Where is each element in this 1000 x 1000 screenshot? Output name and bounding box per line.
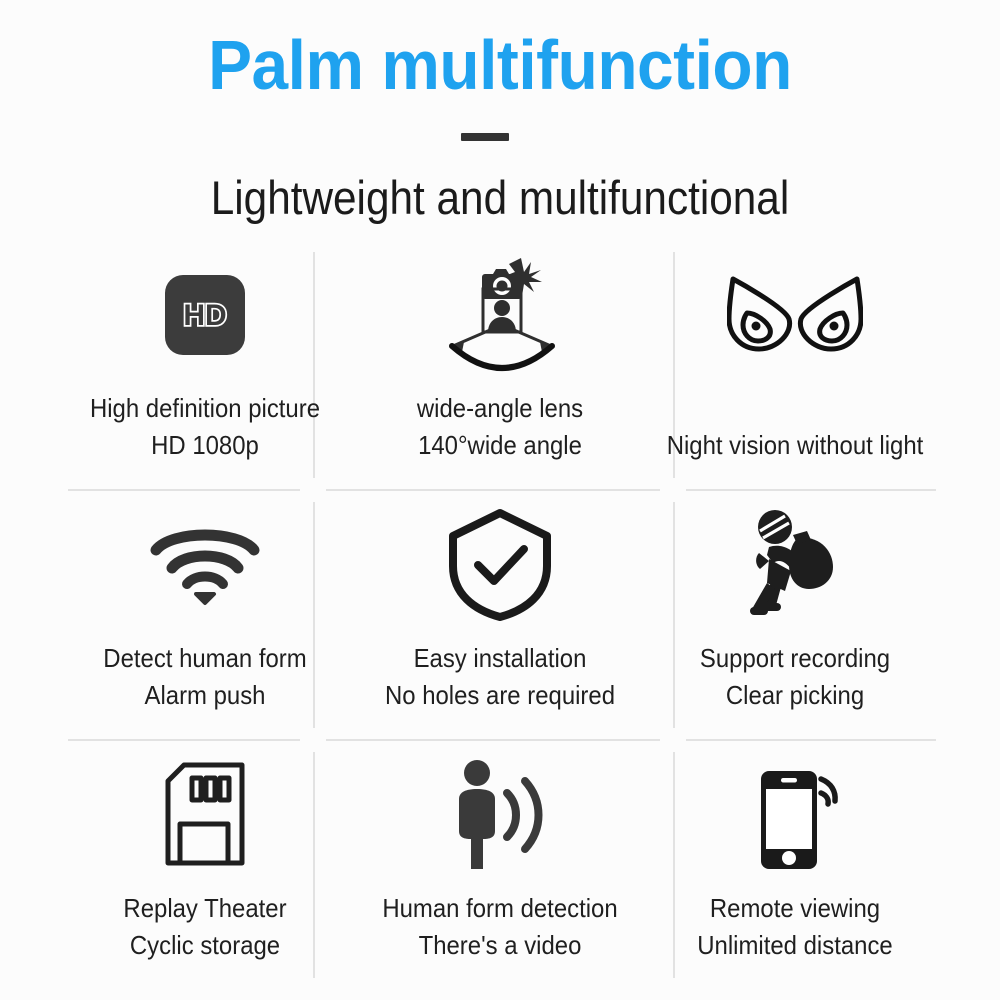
feature-caption-line2: Cyclic storage: [70, 927, 340, 964]
svg-text:HD: HD: [183, 299, 226, 332]
feature-caption-line2: Alarm push: [70, 677, 340, 714]
feature-poster: Palm multifunction Lightweight and multi…: [0, 0, 1000, 1000]
title-divider-bar: [461, 133, 509, 141]
feature-caption-line2: Clear picking: [660, 677, 930, 714]
feature-card-wide-angle: wide-angle lens 140°wide angle: [353, 240, 647, 490]
feature-card-replay-theater: Replay Theater Cyclic storage: [58, 740, 352, 990]
feature-caption-line1: Detect human form: [70, 640, 340, 677]
hd-badge-icon: HD: [58, 240, 352, 390]
night-vision-eyes-icon: [648, 240, 942, 390]
feature-caption-line1: Easy installation: [365, 640, 635, 677]
feature-grid: HD High definition picture HD 1080p: [58, 240, 942, 990]
feature-caption-line1: wide-angle lens: [365, 390, 635, 427]
person-motion-signal-icon: [353, 740, 647, 890]
feature-card-human-detection: Human form detection There's a video: [353, 740, 647, 990]
feature-card-support-recording: Support recording Clear picking: [648, 490, 942, 740]
page-title: Palm multifunction: [30, 22, 970, 108]
page-subtitle: Lightweight and multifunctional: [50, 168, 950, 228]
shield-check-icon: [353, 490, 647, 640]
feature-caption-line1: Replay Theater: [70, 890, 340, 927]
feature-caption-line2: No holes are required: [365, 677, 635, 714]
feature-caption-line1: Support recording: [660, 640, 930, 677]
feature-caption-line1: Remote viewing: [660, 890, 930, 927]
wide-angle-camera-icon: [353, 240, 647, 390]
feature-caption-line2: HD 1080p: [70, 427, 340, 464]
feature-caption-line2: 140°wide angle: [365, 427, 635, 464]
feature-card-high-definition: HD High definition picture HD 1080p: [58, 240, 352, 490]
feature-caption-line1: Human form detection: [365, 890, 635, 927]
feature-card-easy-installation: Easy installation No holes are required: [353, 490, 647, 740]
feature-caption-line1: High definition picture: [70, 390, 340, 427]
feature-card-night-vision: Night vision without light: [648, 240, 942, 490]
feature-card-detect-human: Detect human form Alarm push: [58, 490, 352, 740]
smartphone-signal-icon: [648, 740, 942, 890]
sd-memory-card-icon: [58, 740, 352, 890]
feature-card-remote-viewing: Remote viewing Unlimited distance: [648, 740, 942, 990]
feature-caption-line2: There's a video: [365, 927, 635, 964]
feature-caption-line1: Night vision without light: [660, 427, 930, 464]
burglar-with-sack-icon: [648, 490, 942, 640]
feature-caption-line2: Unlimited distance: [660, 927, 930, 964]
wifi-signal-icon: [58, 490, 352, 640]
